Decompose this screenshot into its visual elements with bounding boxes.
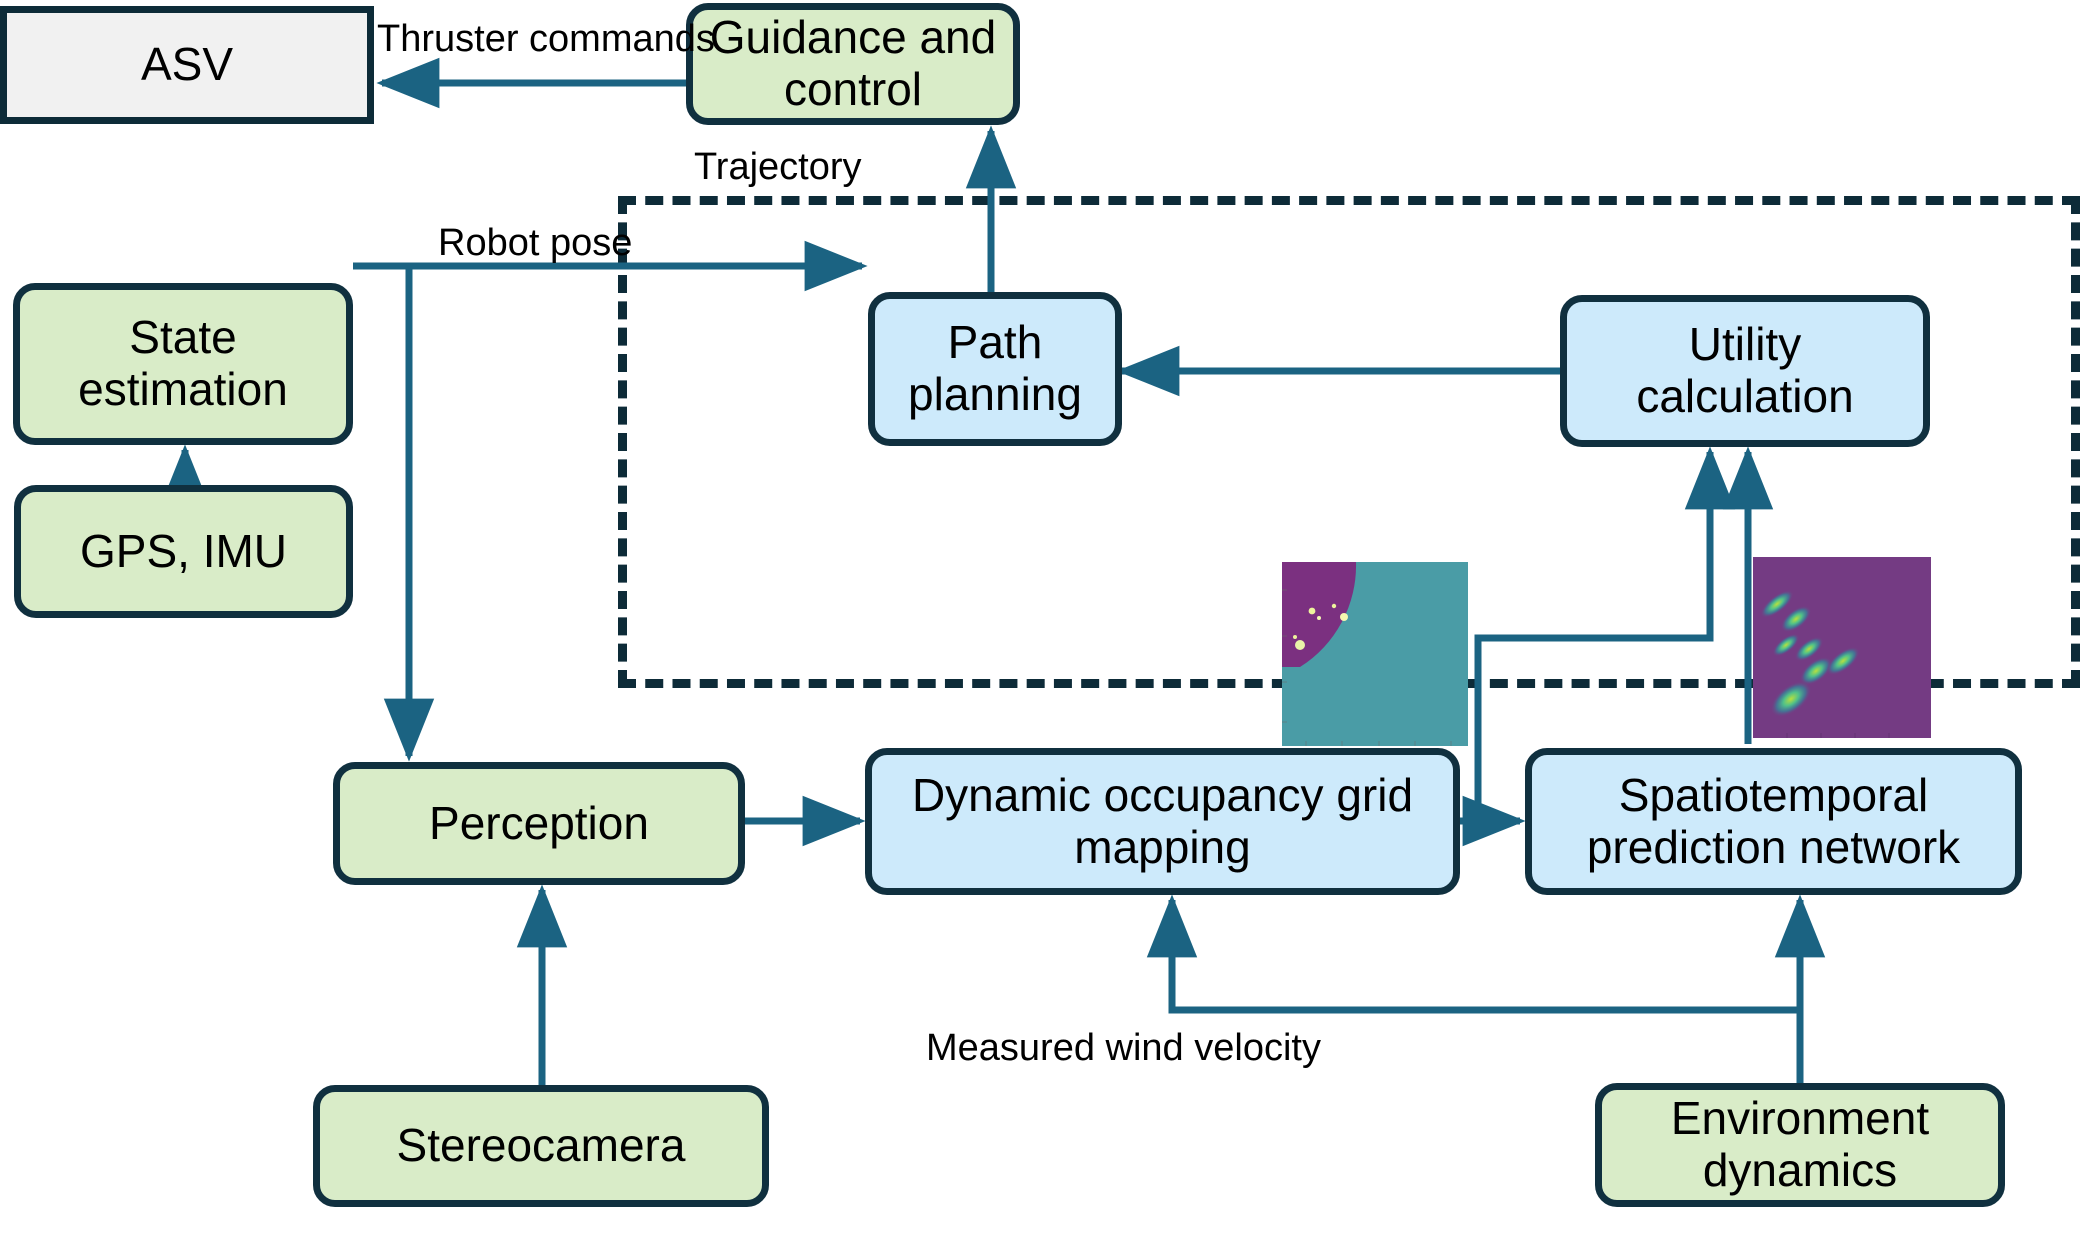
node-perception-label: Perception <box>419 798 659 850</box>
node-asv-label: ASV <box>131 39 243 91</box>
node-dynamic-occupancy-grid-mapping[interactable]: Dynamic occupancy grid mapping <box>865 748 1460 895</box>
node-asv[interactable]: ASV <box>0 6 374 124</box>
node-environment-dynamics[interactable]: Environment dynamics <box>1595 1083 2005 1207</box>
node-utility-calculation[interactable]: Utility calculation <box>1560 295 1930 447</box>
node-stereocamera[interactable]: Stereocamera <box>313 1085 769 1207</box>
node-dynamic-occupancy-grid-mapping-label: Dynamic occupancy grid mapping <box>872 770 1453 873</box>
node-perception[interactable]: Perception <box>333 762 745 885</box>
node-environment-dynamics-label: Environment dynamics <box>1602 1093 1998 1196</box>
node-state-estimation-label: State estimation <box>20 312 346 415</box>
diagram-canvas: ASV Guidance and control State estimatio… <box>0 0 2089 1245</box>
node-path-planning[interactable]: Path planning <box>868 292 1122 446</box>
edge-label-measured-wind-velocity: Measured wind velocity <box>926 1027 1321 1070</box>
edge-label-robot-pose: Robot pose <box>438 222 632 265</box>
node-gps-imu-label: GPS, IMU <box>70 526 297 578</box>
node-gps-imu[interactable]: GPS, IMU <box>14 485 353 618</box>
edge-label-trajectory: Trajectory <box>694 146 862 189</box>
edge-envdynamics-to-dogm <box>1172 900 1800 1010</box>
prediction-heatmap-thumbnail <box>1753 557 1931 738</box>
node-guidance-and-control-label: Guidance and control <box>693 12 1013 115</box>
node-utility-calculation-label: Utility calculation <box>1567 319 1923 422</box>
edge-label-thruster-commands: Thruster commands <box>377 18 715 61</box>
node-stereocamera-label: Stereocamera <box>387 1120 696 1172</box>
occupancy-grid-thumbnail <box>1282 562 1468 746</box>
node-path-planning-label: Path planning <box>875 317 1115 420</box>
node-guidance-and-control[interactable]: Guidance and control <box>686 3 1020 125</box>
node-state-estimation[interactable]: State estimation <box>13 283 353 445</box>
node-spatiotemporal-prediction-network[interactable]: Spatiotemporal prediction network <box>1525 748 2022 895</box>
node-spatiotemporal-prediction-network-label: Spatiotemporal prediction network <box>1532 770 2015 873</box>
